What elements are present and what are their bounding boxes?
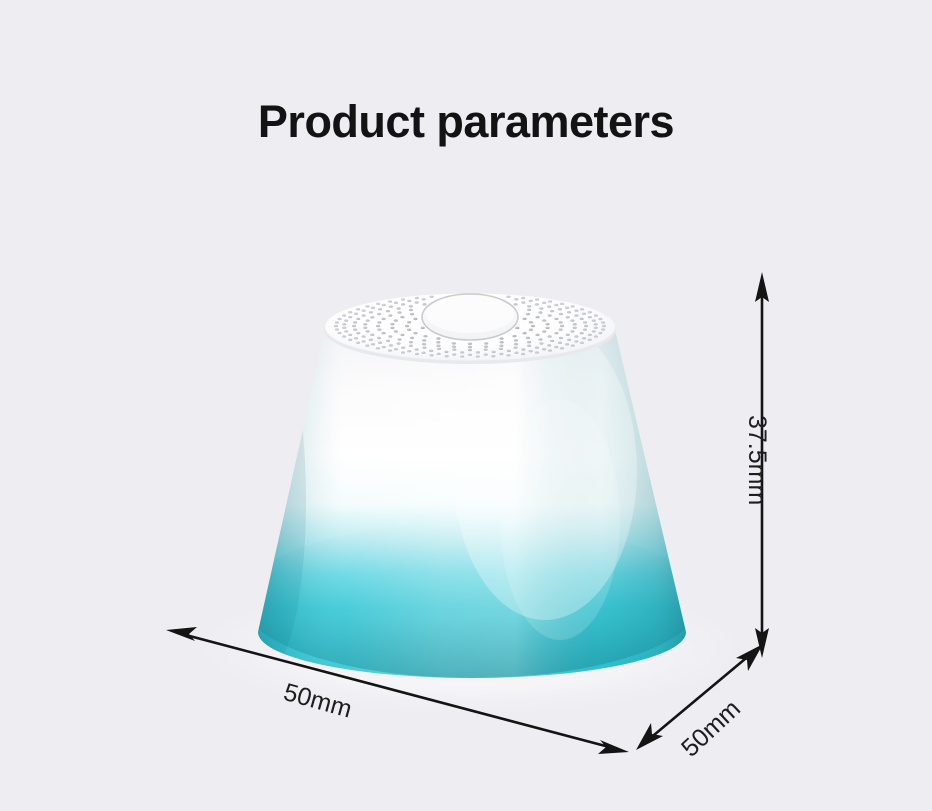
dimension-height-label: 37.5mm <box>742 415 771 505</box>
power-button[interactable] <box>422 294 518 340</box>
speaker-body <box>230 320 702 678</box>
product-illustration <box>0 0 932 811</box>
product-parameters-page: Product parameters <box>0 0 932 811</box>
